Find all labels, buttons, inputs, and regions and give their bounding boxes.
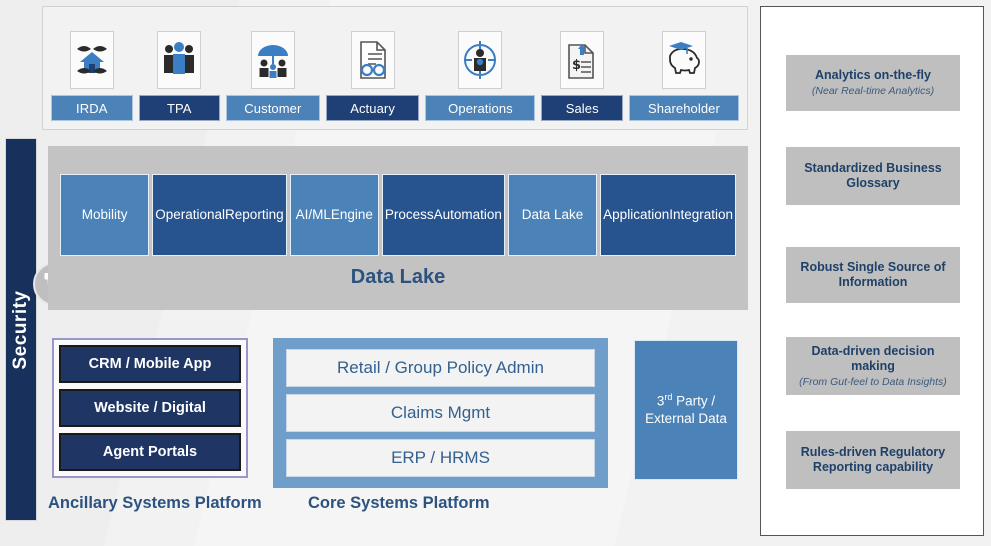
third-party-external-data-box: 3rd Party / External Data [634, 340, 738, 480]
security-label: Security [10, 290, 32, 369]
ancillary-item[interactable]: Website / Digital [59, 389, 241, 427]
core-item[interactable]: ERP / HRMS [286, 439, 595, 477]
ancillary-systems-platform: CRM / Mobile AppWebsite / DigitalAgent P… [52, 338, 248, 478]
consumer-label[interactable]: Operations [425, 95, 535, 121]
capability-tile-operational-reporting[interactable]: OperationalReporting [152, 174, 286, 256]
consumer-irda[interactable]: IRDA [51, 15, 133, 121]
consumer-actuary[interactable]: Actuary [326, 15, 420, 121]
capability-tile-process-automation[interactable]: ProcessAutomation [382, 174, 505, 256]
capability-tile-mobility[interactable]: Mobility [60, 174, 149, 256]
consumer-label[interactable]: Sales [541, 95, 623, 121]
consumer-label[interactable]: Shareholder [629, 95, 739, 121]
capability-tile-application-integration[interactable]: ApplicationIntegration [600, 174, 736, 256]
core-platform-caption: Core Systems Platform [308, 494, 490, 513]
consumer-tpa[interactable]: TPA [139, 15, 221, 121]
benefit-subtitle: (From Gut-feel to Data Insights) [799, 376, 947, 389]
invoice-dollar-icon: $ [560, 31, 604, 89]
core-systems-platform: Retail / Group Policy AdminClaims MgmtER… [273, 338, 608, 488]
benefit-title: Analytics on-the-fly [815, 68, 931, 83]
benefit-card: Data-driven decision making(From Gut-fee… [786, 337, 960, 395]
document-glasses-icon [351, 31, 395, 89]
ancillary-item[interactable]: CRM / Mobile App [59, 345, 241, 383]
consumer-customer[interactable]: Customer [226, 15, 320, 121]
data-lake-capability-band: MobilityOperationalReportingAI/MLEngineP… [48, 146, 748, 310]
benefit-title: Rules-driven Regulatory Reporting capabi… [792, 445, 954, 475]
benefit-subtitle: (Near Real-time Analytics) [812, 85, 934, 98]
consumer-label[interactable]: IRDA [51, 95, 133, 121]
benefit-title: Standardized Business Glossary [792, 161, 954, 191]
main-architecture-area: IRDA TPA Customer Actuary Operations $ S… [0, 0, 752, 546]
third-party-line1-suffix: Party / [672, 394, 715, 409]
benefit-title: Data-driven decision making [792, 344, 954, 374]
people-group-icon [157, 31, 201, 89]
consumer-sales[interactable]: $ Sales [541, 15, 623, 121]
benefit-card: Standardized Business Glossary [786, 147, 960, 205]
consumer-shareholder[interactable]: Shareholder [629, 15, 739, 121]
consumer-label[interactable]: Actuary [326, 95, 420, 121]
consumer-label[interactable]: Customer [226, 95, 320, 121]
architecture-diagram: IRDA TPA Customer Actuary Operations $ S… [0, 0, 991, 546]
ancillary-items: CRM / Mobile AppWebsite / DigitalAgent P… [52, 338, 248, 478]
benefits-panel: Analytics on-the-fly(Near Real-time Anal… [760, 6, 984, 536]
capability-tiles: MobilityOperationalReportingAI/MLEngineP… [60, 174, 736, 256]
piggy-bank-graduate-icon [662, 31, 706, 89]
capability-tile-ai-ml-engine[interactable]: AI/MLEngine [290, 174, 379, 256]
svg-text:$: $ [572, 58, 581, 73]
family-umbrella-icon [251, 31, 295, 89]
consumer-operations[interactable]: Operations [425, 15, 535, 121]
core-item[interactable]: Retail / Group Policy Admin [286, 349, 595, 387]
consumers-panel: IRDA TPA Customer Actuary Operations $ S… [42, 6, 748, 130]
benefit-card: Rules-driven Regulatory Reporting capabi… [786, 431, 960, 489]
capability-tile-data-lake[interactable]: Data Lake [508, 174, 597, 256]
house-insurance-icon [70, 31, 114, 89]
benefit-card: Robust Single Source of Information [786, 247, 960, 303]
core-item[interactable]: Claims Mgmt [286, 394, 595, 432]
core-items: Retail / Group Policy AdminClaims MgmtER… [273, 338, 608, 488]
platforms-row: CRM / Mobile AppWebsite / DigitalAgent P… [48, 330, 748, 530]
third-party-line2: External Data [645, 411, 727, 426]
consumer-row: IRDA TPA Customer Actuary Operations $ S… [51, 15, 739, 121]
consumer-label[interactable]: TPA [139, 95, 221, 121]
target-person-icon [458, 31, 502, 89]
benefit-title: Robust Single Source of Information [792, 260, 954, 290]
capability-band-title: Data Lake [48, 266, 748, 289]
security-bar: Security [5, 138, 37, 521]
ancillary-item[interactable]: Agent Portals [59, 433, 241, 471]
ancillary-platform-caption: Ancillary Systems Platform [48, 494, 262, 513]
benefit-card: Analytics on-the-fly(Near Real-time Anal… [786, 55, 960, 111]
